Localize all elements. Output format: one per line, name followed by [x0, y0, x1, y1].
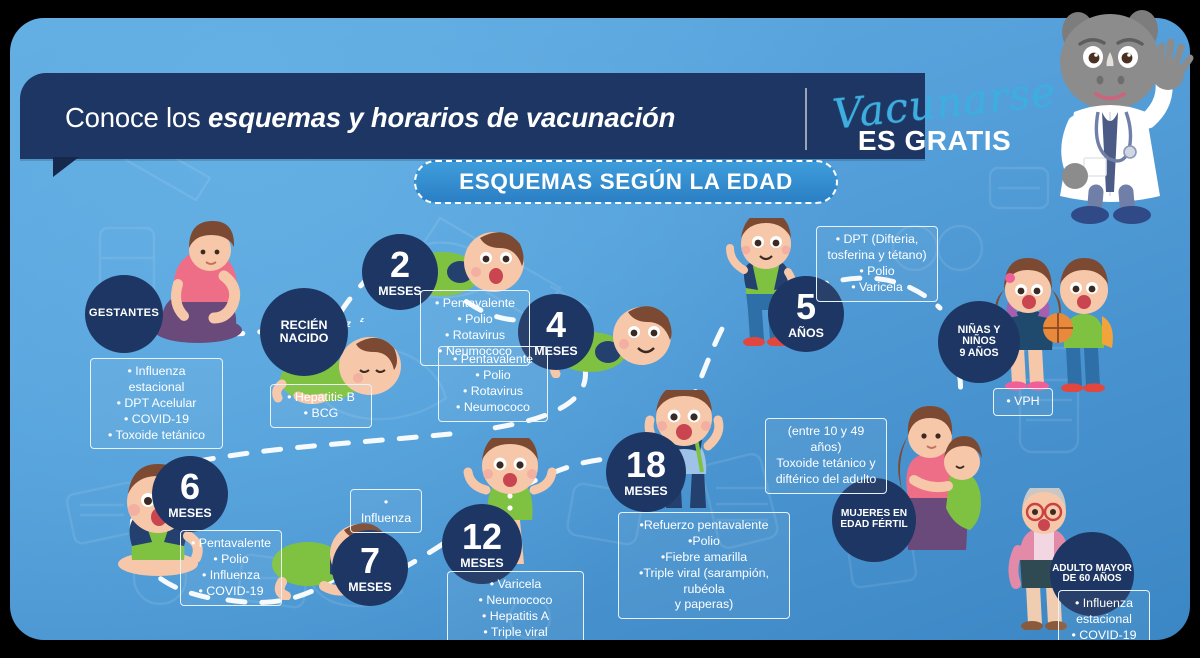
info-recien-nacido: • Hepatitis B • BCG	[270, 384, 372, 428]
info-ninas-ninos-9: • VPH	[993, 388, 1053, 416]
node-gestantes-label: GESTANTES	[89, 308, 159, 320]
page-title: Conoce los esquemas y horarios de vacuna…	[65, 96, 785, 140]
node-adulto-mayor-line2: DE 60 AÑOS	[1062, 574, 1121, 584]
node-7-meses[interactable]: 7 MESES	[332, 530, 408, 606]
info-adulto-mayor-60: • Influenza estacional • COVID-19	[1058, 590, 1150, 640]
node-ninas-ninos-9-line2: NIÑOS	[962, 336, 996, 347]
node-12-meses-unit: MESES	[460, 557, 503, 570]
node-2-meses-number: 2	[390, 246, 410, 283]
main-panel: z z z	[10, 18, 1190, 640]
page-title-plain: Conoce los	[65, 102, 208, 133]
node-4-meses-number: 4	[546, 306, 566, 343]
node-ninas-ninos-9-line3: 9 AÑOS	[959, 348, 998, 359]
node-6-meses-unit: MESES	[168, 507, 211, 520]
info-4-meses: • Pentavalente • Polio • Rotavirus • Neu…	[438, 346, 548, 422]
node-5-anos-number: 5	[796, 288, 816, 325]
infographic-root: z z z	[0, 0, 1200, 658]
node-gestantes[interactable]: GESTANTES	[85, 275, 163, 353]
node-6-meses[interactable]: 6 MESES	[152, 456, 228, 532]
info-6-meses: • Pentavalente • Polio • Influenza • COV…	[180, 530, 282, 606]
node-12-meses-number: 12	[462, 518, 502, 555]
info-5-anos: • DPT (Difteria, tosferina y tétano) • P…	[816, 226, 938, 302]
node-mujeres-line2: EDAD FÉRTIL	[840, 520, 907, 531]
node-6-meses-number: 6	[180, 468, 200, 505]
section-badge-label: ESQUEMAS SEGÚN LA EDAD	[459, 169, 793, 195]
node-18-meses[interactable]: 18 MESES	[606, 432, 686, 512]
info-18-meses: •Refuerzo pentavalente •Polio •Fiebre am…	[618, 512, 790, 619]
page-title-emphasis: esquemas y horarios de vacunación	[208, 102, 675, 133]
header-divider	[805, 88, 807, 150]
node-5-anos-unit: AÑOS	[788, 327, 824, 340]
section-badge[interactable]: ESQUEMAS SEGÚN LA EDAD	[414, 160, 838, 204]
node-7-meses-unit: MESES	[348, 581, 391, 594]
svg-text:z: z	[359, 318, 364, 324]
logo: Vacunarse ES GRATIS	[822, 73, 1057, 168]
node-7-meses-number: 7	[360, 542, 380, 579]
info-12-meses: • Varicela • Neumococo • Hepatitis A • T…	[447, 571, 584, 640]
info-gestantes: • Influenza estacional • DPT Acelular • …	[90, 358, 223, 449]
node-18-meses-unit: MESES	[624, 485, 667, 498]
info-7-meses: • Influenza	[350, 489, 422, 533]
node-18-meses-number: 18	[626, 446, 666, 483]
mascot-hippo-doctor-illustration	[1030, 0, 1200, 225]
node-2-meses-unit: MESES	[378, 285, 421, 298]
node-ninas-ninos-9[interactable]: NIÑAS Y NIÑOS 9 AÑOS	[938, 301, 1020, 383]
logo-subtitle: ES GRATIS	[822, 125, 1047, 157]
node-recien-nacido[interactable]: RECIÉN NACIDO	[260, 288, 348, 376]
info-mujeres-edad-fertil: (entre 10 y 49 años) Toxoide tetánico y …	[765, 418, 887, 494]
node-recien-nacido-line2: NACIDO	[280, 332, 329, 345]
